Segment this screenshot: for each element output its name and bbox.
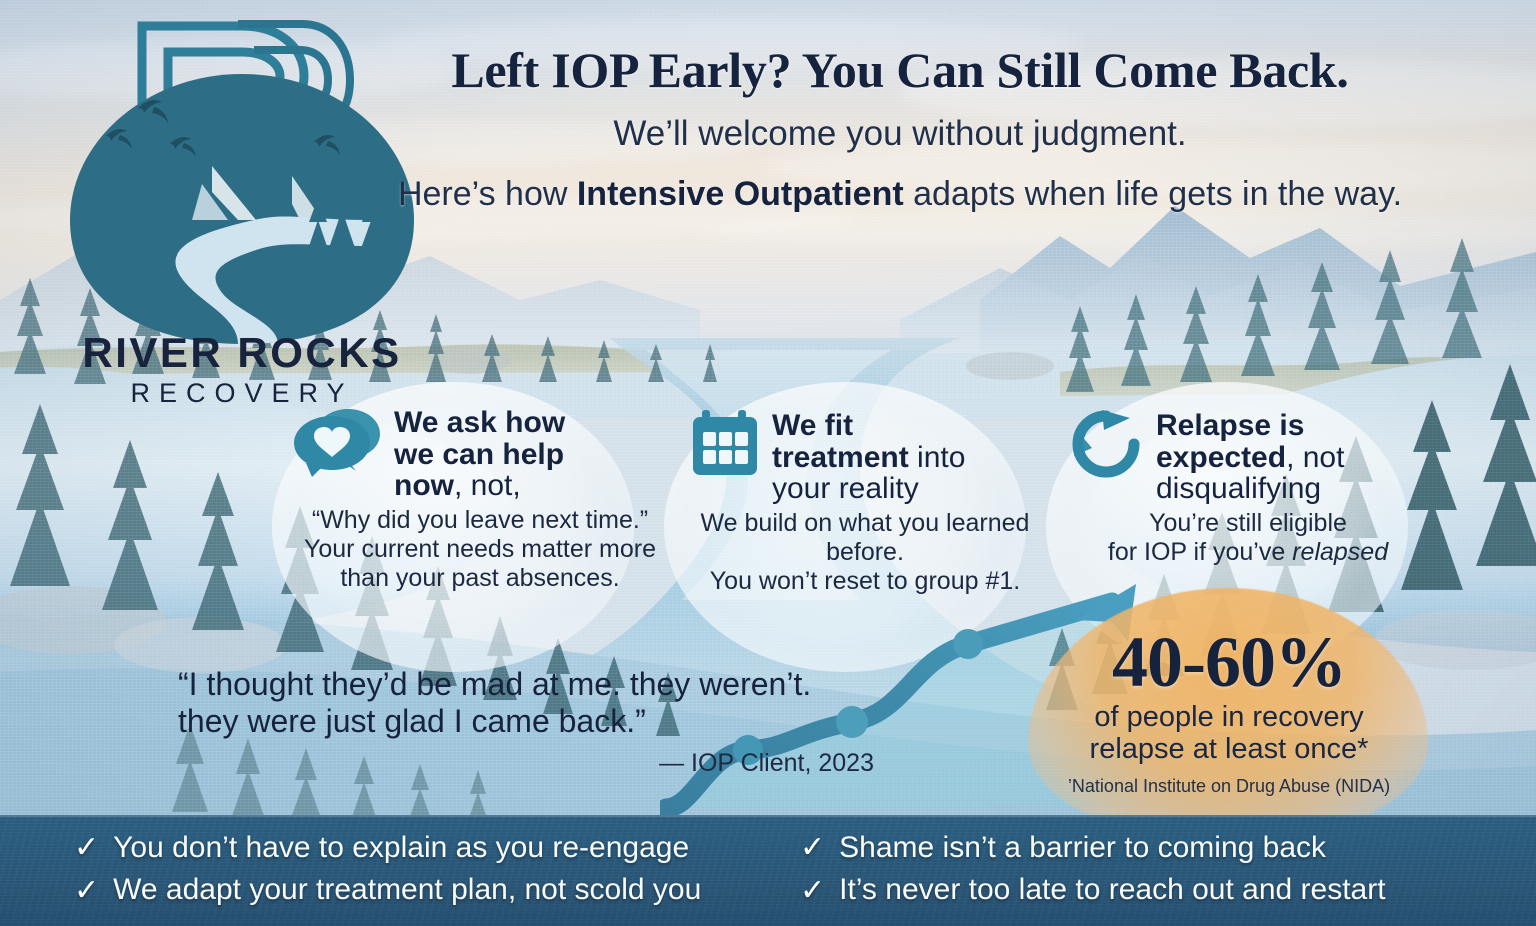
- checklist-item-label: We adapt your treatment plan, not scold …: [113, 871, 701, 909]
- feature-3-subtext-line2-text: for IOP if you’ve: [1108, 538, 1292, 566]
- chart-node: [953, 629, 983, 659]
- page-title: Left IOP Early? You Can Still Come Back.: [380, 44, 1420, 96]
- checklist-item: ✓ We adapt your treatment plan, not scol…: [74, 871, 800, 909]
- stat-source-footnote: ’National Institute on Drug Abuse (NIDA): [1028, 776, 1430, 797]
- checklist-item: ✓ It’s never too late to reach out and r…: [800, 871, 1536, 909]
- feature-1-heading: We ask how we can help now, not,: [394, 405, 604, 502]
- feature-3-subtext: You’re still eligible for IOP if you’ve …: [1068, 509, 1428, 567]
- checklist-item-label: It’s never too late to reach out and res…: [839, 871, 1385, 909]
- stat-description-line2: relapse at least once*: [1028, 734, 1430, 766]
- checklist-item: ✓ Shame isn’t a barrier to coming back: [800, 829, 1536, 867]
- feature-3-subtext-line2: for IOP if you’ve relapsed: [1068, 538, 1428, 567]
- feature-2-heading-bold: We fit treatment: [772, 409, 909, 474]
- quote-attribution: — IOP Client, 2023: [178, 749, 878, 778]
- intro-text-before: Here’s how: [398, 175, 577, 213]
- feature-3-heading-bold: Relapse is expected: [1156, 409, 1304, 474]
- checklist-item-label: You don’t have to explain as you re-enga…: [113, 829, 689, 867]
- header-block: Left IOP Early? You Can Still Come Back.…: [380, 44, 1420, 216]
- check-icon: ✓: [74, 876, 99, 906]
- intro-text-emphasis: Intensive Outpatient: [577, 175, 904, 213]
- intro-text-after: adapts when life gets in the way.: [904, 175, 1402, 213]
- feature-2: We fit treatment into your reality We bu…: [690, 408, 1040, 596]
- feature-3-subtext-italic: relapsed: [1292, 538, 1388, 566]
- check-icon: ✓: [74, 833, 99, 863]
- check-icon: ✓: [800, 833, 825, 863]
- feature-3-subtext-line1: You’re still eligible: [1068, 509, 1428, 538]
- checklist-item: ✓ You don’t have to explain as you re-en…: [74, 829, 800, 867]
- quote-line2: they were just glad I came back.”: [178, 703, 878, 740]
- feature-2-subtext-line1: We build on what you learned before.: [690, 509, 1040, 567]
- intro-text: Here’s how Intensive Outpatient adapts w…: [380, 173, 1420, 216]
- subheadline: We’ll welcome you without judgment.: [380, 114, 1420, 153]
- refresh-loop-icon: [1068, 408, 1144, 480]
- feature-1-heading-tail: , not,: [454, 469, 521, 502]
- feature-3: Relapse is expected, not disqualifying Y…: [1068, 408, 1428, 567]
- stat-description: of people in recovery relapse at least o…: [1028, 702, 1430, 766]
- calendar-icon: [690, 408, 760, 478]
- quote-line1: “I thought they’d be mad at me. they wer…: [178, 666, 878, 703]
- client-quote: “I thought they’d be mad at me. they wer…: [178, 666, 878, 778]
- check-icon: ✓: [800, 876, 825, 906]
- speech-bubbles-heart-icon: [290, 405, 382, 483]
- checklist-grid: ✓ You don’t have to explain as you re-en…: [0, 815, 1536, 910]
- brand-name: RIVER ROCKS: [42, 332, 442, 374]
- checklist-bar: ✓ You don’t have to explain as you re-en…: [0, 815, 1536, 926]
- feature-1-subtext-line2: Your current needs matter more than your…: [290, 535, 670, 593]
- feature-3-heading: Relapse is expected, not disqualifying: [1156, 408, 1396, 505]
- feature-1-subtext-line1: “Why did you leave next time.”: [290, 506, 670, 535]
- checklist-item-label: Shame isn’t a barrier to coming back: [839, 829, 1326, 867]
- feature-2-heading: We fit treatment into your reality: [772, 408, 987, 505]
- feature-1: We ask how we can help now, not, “Why di…: [290, 405, 670, 593]
- stat-block: 40-60% of people in recovery relapse at …: [1028, 626, 1430, 797]
- feature-1-subtext: “Why did you leave next time.” Your curr…: [290, 506, 670, 593]
- stat-description-line1: of people in recovery: [1028, 702, 1430, 734]
- infographic-poster: RIVER ROCKS RECOVERY Left IOP Early? You…: [0, 0, 1536, 926]
- logo-badge: [70, 74, 414, 344]
- stat-number: 40-60%: [1028, 626, 1430, 698]
